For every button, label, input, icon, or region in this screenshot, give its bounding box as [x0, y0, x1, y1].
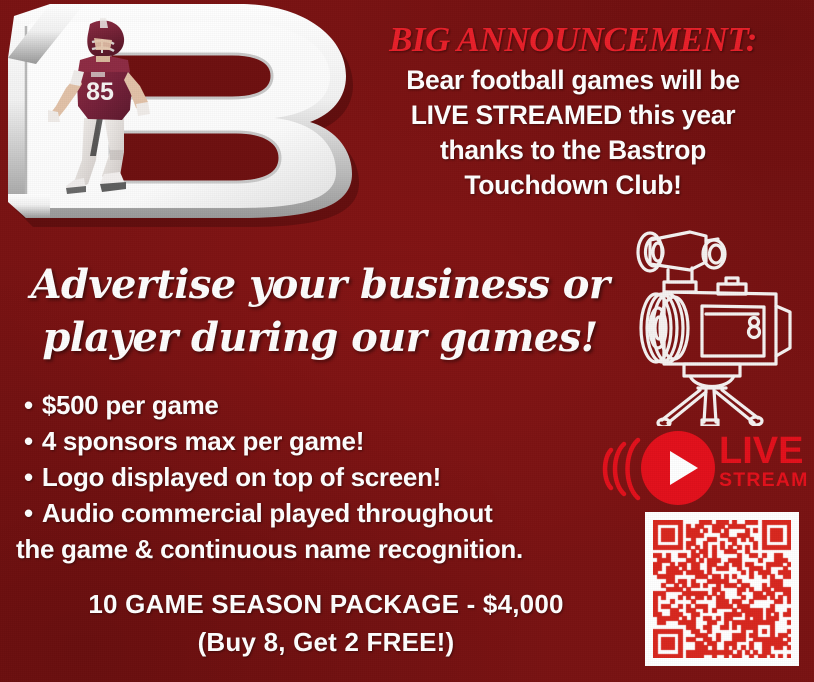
list-item-label: $500 per game	[42, 390, 219, 420]
list-item-label: Logo displayed on top of screen!	[42, 462, 441, 492]
list-item: •4 sponsors max per game!	[16, 424, 646, 460]
season-package-block: 10 GAME SEASON PACKAGE - $4,000 (Buy 8, …	[20, 586, 632, 661]
headline-line: player during our games!	[22, 311, 618, 364]
sponsorship-announcement-poster: 85 BIG ANNOUNCE	[0, 0, 814, 682]
list-item-continuation: the game & continuous name recognition.	[16, 532, 646, 568]
announcement-body: Bear football games will be LIVE STREAME…	[336, 63, 810, 204]
benefits-list: •$500 per game •4 sponsors max per game!…	[16, 388, 646, 567]
list-item-label: Audio commercial played throughout	[42, 498, 493, 528]
announcement-line: thanks to the Bastrop	[336, 133, 810, 168]
announcement-block: BIG ANNOUNCEMENT: Bear football games wi…	[336, 22, 810, 204]
qr-code[interactable]	[645, 512, 799, 666]
list-item: •Logo displayed on top of screen!	[16, 460, 646, 496]
bullet-dot-icon: •	[24, 462, 33, 492]
bullet-dot-icon: •	[24, 498, 33, 528]
bullet-dot-icon: •	[24, 426, 33, 456]
stream-label: STREAM	[719, 471, 807, 491]
play-triangle-icon	[670, 451, 698, 485]
list-item: •Audio commercial played throughout	[16, 496, 646, 532]
announcement-line: Touchdown Club!	[336, 168, 810, 203]
jersey-number: 85	[86, 78, 114, 106]
qr-code-image	[653, 520, 791, 658]
live-stream-wordmark: LIVE STREAM	[719, 434, 807, 490]
season-package-price: 10 GAME SEASON PACKAGE - $4,000	[20, 586, 632, 624]
announcement-line: Bear football games will be	[336, 63, 810, 98]
live-play-button[interactable]	[641, 431, 715, 505]
announcement-line: LIVE STREAMED this year	[336, 98, 810, 133]
announcement-kicker: BIG ANNOUNCEMENT:	[336, 22, 810, 58]
list-item-label: 4 sponsors max per game!	[42, 426, 364, 456]
headline-line: Advertise your business or	[22, 258, 618, 311]
team-logo: 85	[0, 0, 372, 228]
live-label: LIVE	[719, 434, 807, 469]
bullet-dot-icon: •	[24, 390, 33, 420]
football-player-photo: 85	[44, 14, 166, 216]
season-package-offer: (Buy 8, Get 2 FREE!)	[20, 624, 632, 662]
headline-block: Advertise your business or player during…	[22, 258, 618, 364]
list-item: •$500 per game	[16, 388, 646, 424]
